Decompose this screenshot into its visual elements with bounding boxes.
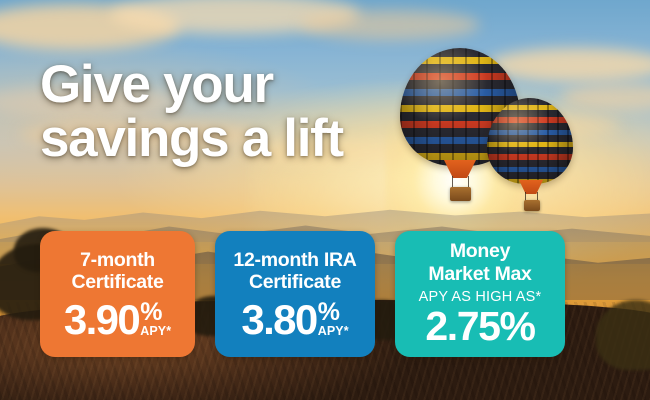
balloon-envelope <box>487 98 573 184</box>
rate-suffix: % APY* <box>318 302 349 338</box>
rate-card-7-month-certificate[interactable]: 7-month Certificate 3.90 % APY* <box>40 231 195 357</box>
card-title: 12-month IRA Certificate <box>225 249 364 294</box>
headline-line-2: savings a lift <box>40 112 440 166</box>
card-title-line-2: Certificate <box>233 271 356 294</box>
balloon-skirt <box>444 160 476 178</box>
promotional-banner: Give your savings a lift 7-month Certifi… <box>0 0 650 400</box>
apy-label: APY* <box>140 325 171 338</box>
percent-symbol: % <box>140 302 162 324</box>
percent-symbol: % <box>318 302 340 324</box>
headline-line-1: Give your <box>40 58 440 112</box>
card-title-line-2: Market Max <box>428 263 531 286</box>
card-title-line-2: Certificate <box>71 271 163 294</box>
hot-air-balloon-small <box>487 98 573 220</box>
card-title: 7-month Certificate <box>63 249 171 294</box>
rate-suffix: % APY* <box>140 302 171 338</box>
balloon-basket <box>450 187 471 201</box>
balloon-basket <box>524 200 540 211</box>
headline: Give your savings a lift <box>40 58 440 166</box>
card-title-line-1: Money <box>428 240 531 263</box>
rate-value: 2.75% <box>425 306 534 348</box>
rate-display: 3.90 % APY* <box>64 301 171 340</box>
rate-cards: 7-month Certificate 3.90 % APY* 12-month… <box>0 231 650 361</box>
rate-display: 3.80 % APY* <box>241 301 348 340</box>
card-title: Money Market Max <box>420 240 539 285</box>
card-title-line-1: 7-month <box>71 249 163 272</box>
balloon-skirt <box>519 180 543 194</box>
apy-label: APY* <box>318 325 349 338</box>
rate-value: 3.80 <box>241 301 316 340</box>
rate-value: 3.90 <box>64 301 139 340</box>
balloon-shading <box>487 98 573 184</box>
rate-card-12-month-ira-certificate[interactable]: 12-month IRA Certificate 3.80 % APY* <box>215 231 375 357</box>
rate-card-money-market-max[interactable]: Money Market Max APY AS HIGH AS* 2.75% <box>395 231 565 357</box>
card-title-line-1: 12-month IRA <box>233 249 356 272</box>
